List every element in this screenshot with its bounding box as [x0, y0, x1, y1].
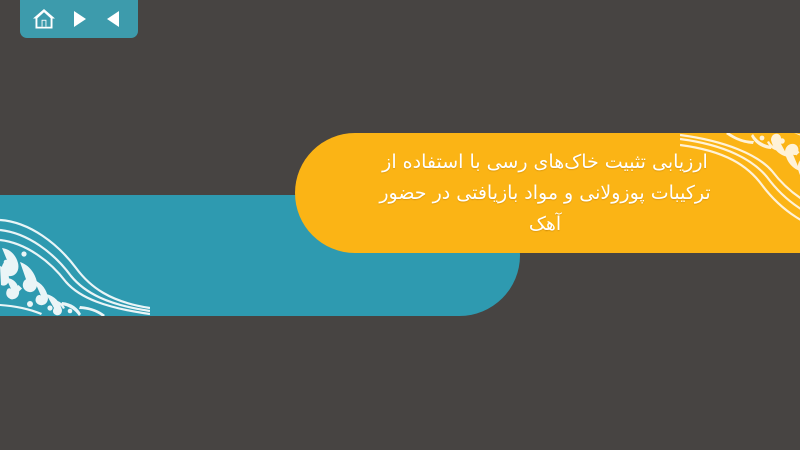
triangle-left-icon	[105, 9, 123, 29]
triangle-right-icon	[70, 9, 88, 29]
persian-arabesque-ornament-orange	[680, 133, 800, 251]
home-icon	[32, 8, 56, 30]
previous-slide-button[interactable]	[99, 6, 129, 32]
persian-arabesque-ornament-teal	[0, 204, 150, 316]
home-button[interactable]	[29, 6, 59, 32]
presentation-slide: ارزیابی تثبیت خاک‌های رسی با استفاده از …	[0, 0, 800, 450]
orange-banner	[295, 133, 800, 253]
slide-navigation-bar	[20, 0, 138, 38]
next-slide-button[interactable]	[64, 6, 94, 32]
